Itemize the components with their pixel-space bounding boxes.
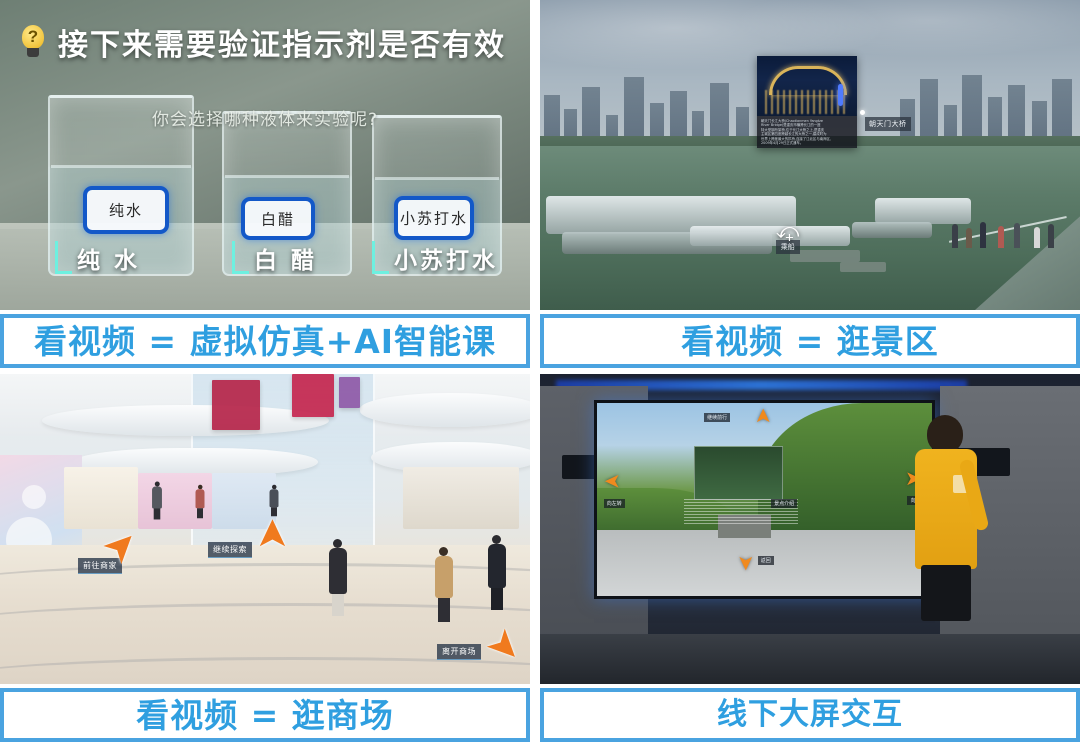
bracket-icon <box>372 241 389 274</box>
beaker-tag-3: 小苏打水 <box>372 241 498 274</box>
beaker-tag-text-3: 小苏打水 <box>394 248 498 274</box>
mall-banner-1 <box>212 380 260 430</box>
photo-scenic-tour: 朝天门长江大桥(Chaotianmen Yangtze River Bridge… <box>540 0 1080 310</box>
screen-hotspot-forward[interactable]: 继续前行 <box>704 413 730 422</box>
caption-text-3: 看视频 = 逛商场 <box>136 699 394 732</box>
photo-virtual-simulation: ? 接下来需要验证指示剂是否有效 你会选择哪种液体来实验呢? 纯水 <box>0 0 530 310</box>
turn-right-arrow-icon: ⤽ <box>776 222 800 240</box>
mall-banner-3 <box>339 377 360 408</box>
caption-virtual-simulation: 看视频 = 虚拟仿真+AI智能课 <box>0 314 530 368</box>
lab-title-row: ? 接下来需要验证指示剂是否有效 <box>20 20 516 64</box>
mall-shopper-3 <box>488 535 506 610</box>
mall-storefront-4 <box>403 467 520 529</box>
pedestrian-group <box>946 186 1066 248</box>
visitor-person <box>915 415 977 665</box>
arrow-down-icon[interactable]: ➤ <box>737 555 755 572</box>
scenario-grid: ? 接下来需要验证指示剂是否有效 你会选择哪种液体来实验呢? 纯水 <box>0 0 1080 748</box>
caption-text-1: 看视频 = 虚拟仿真+AI智能课 <box>34 325 496 358</box>
mall-shopper-1 <box>329 539 347 616</box>
beaker-sticker-text-3: 小苏打水 <box>398 208 470 229</box>
caption-wrap-4: 线下大屏交互 <box>540 684 1080 748</box>
caption-mall-tour: 看视频 = 逛商场 <box>0 688 530 742</box>
lab-subtitle-text: 你会选择哪种液体来实验呢? <box>0 105 530 130</box>
bridge-thumbnail <box>757 56 857 116</box>
mall-shopper-5 <box>195 485 204 519</box>
beaker-tag-text-1: 纯 水 <box>77 248 140 274</box>
hall-scene: ➤ 继续前行 ➤ 向左转 ➤ 向右转 ➤ 返回 景点介绍 <box>540 374 1080 684</box>
info-line-6: 2009年4月29日正式通车。 <box>761 141 853 145</box>
beaker-sticker-text-1: 纯水 <box>87 200 165 221</box>
pier-1 <box>790 250 860 262</box>
pier-2 <box>840 262 886 272</box>
lightbulb-question-icon: ? <box>20 25 46 59</box>
beaker-sticker-2: 白醋 <box>241 197 315 240</box>
hotspot-dot-icon[interactable] <box>860 110 865 115</box>
panel-mall-tour: 前往商家 ➤ 继续探索 ➤ 离开商场 ➤ <box>0 374 535 748</box>
interactive-big-screen[interactable]: ➤ 继续前行 ➤ 向左转 ➤ 向右转 ➤ 返回 景点介绍 <box>594 400 935 598</box>
scenic-info-card[interactable]: 朝天门长江大桥(Chaotianmen Yangtze River Bridge… <box>757 56 857 148</box>
mall-shopper-4 <box>152 482 162 520</box>
caption-wrap-3: 看视频 = 逛商场 <box>0 684 530 748</box>
mall-storefront-1 <box>64 467 138 529</box>
mall-balcony-3 <box>360 393 530 427</box>
ferry-boat-3 <box>690 226 850 246</box>
bulb-question-glyph: ? <box>20 26 46 48</box>
caption-wrap-1: 看视频 = 虚拟仿真+AI智能课 <box>0 310 530 374</box>
hotspot-leave-mall[interactable]: 离开商场 <box>437 644 481 660</box>
caption-scenic-tour: 看视频 = 逛景区 <box>540 314 1080 368</box>
panel-virtual-simulation: ? 接下来需要验证指示剂是否有效 你会选择哪种液体来实验呢? 纯水 <box>0 0 535 374</box>
caption-wrap-2: 看视频 = 逛景区 <box>540 310 1080 374</box>
photo-mall-tour: 前往商家 ➤ 继续探索 ➤ 离开商场 ➤ <box>0 374 530 684</box>
bracket-icon <box>55 241 72 274</box>
mall-balcony-1 <box>42 405 328 436</box>
screen-hotspot-spot-intro[interactable]: 景点介绍 <box>771 499 797 508</box>
panel-scenic-tour: 朝天门长江大桥(Chaotianmen Yangtze River Bridge… <box>535 0 1080 374</box>
ferry-boat-5 <box>852 222 932 238</box>
hotspot-label-continue: 继续探索 <box>208 542 252 558</box>
hotspot-label-leave-mall: 离开商场 <box>437 644 481 660</box>
lab-scene: ? 接下来需要验证指示剂是否有效 你会选择哪种液体来实验呢? 纯水 <box>0 0 530 310</box>
hotspot-continue-explore[interactable]: 继续探索 <box>208 542 252 558</box>
beaker-tag-text-2: 白 醋 <box>254 248 317 274</box>
photo-offline-big-screen: ➤ 继续前行 ➤ 向左转 ➤ 向右转 ➤ 返回 景点介绍 <box>540 374 1080 684</box>
hall-floor <box>540 634 1080 684</box>
mall-scene: 前往商家 ➤ 继续探索 ➤ 离开商场 ➤ <box>0 374 530 684</box>
beaker-sticker-3: 小苏打水 <box>394 196 474 240</box>
caption-text-2: 看视频 = 逛景区 <box>681 325 939 358</box>
beaker-sticker-text-2: 白醋 <box>245 208 311 229</box>
hotspot-label-bridge[interactable]: 朝天门大桥 <box>865 117 911 131</box>
beaker-sticker-1: 纯水 <box>83 186 169 234</box>
screen-hotspot-left[interactable]: 向左转 <box>604 499 625 508</box>
mall-shopper-2 <box>435 547 453 622</box>
hotspot-board-boat[interactable]: ⤽ 乘船 <box>776 222 800 254</box>
beaker-tag-2: 白 醋 <box>232 241 317 274</box>
scenic-info-body: 朝天门长江大桥(Chaotianmen Yangtze River Bridge… <box>757 116 857 148</box>
arrow-left-icon[interactable]: ➤ <box>604 473 621 491</box>
beaker-tag-1: 纯 水 <box>55 241 140 274</box>
mall-shopper-6 <box>270 485 279 517</box>
caption-offline-big-screen: 线下大屏交互 <box>540 688 1080 742</box>
screen-hotspot-back[interactable]: 返回 <box>758 556 774 565</box>
mall-banner-2 <box>292 374 334 417</box>
caption-text-4: 线下大屏交互 <box>717 700 903 730</box>
bracket-icon <box>232 241 249 274</box>
lab-title-text: 接下来需要验证指示剂是否有效 <box>58 20 506 64</box>
screen-info-card[interactable] <box>694 446 783 500</box>
arrow-up-icon[interactable]: ➤ <box>754 408 772 425</box>
river-scene: 朝天门长江大桥(Chaotianmen Yangtze River Bridge… <box>540 0 1080 310</box>
panel-offline-big-screen: ➤ 继续前行 ➤ 向左转 ➤ 向右转 ➤ 返回 景点介绍 <box>535 374 1080 748</box>
